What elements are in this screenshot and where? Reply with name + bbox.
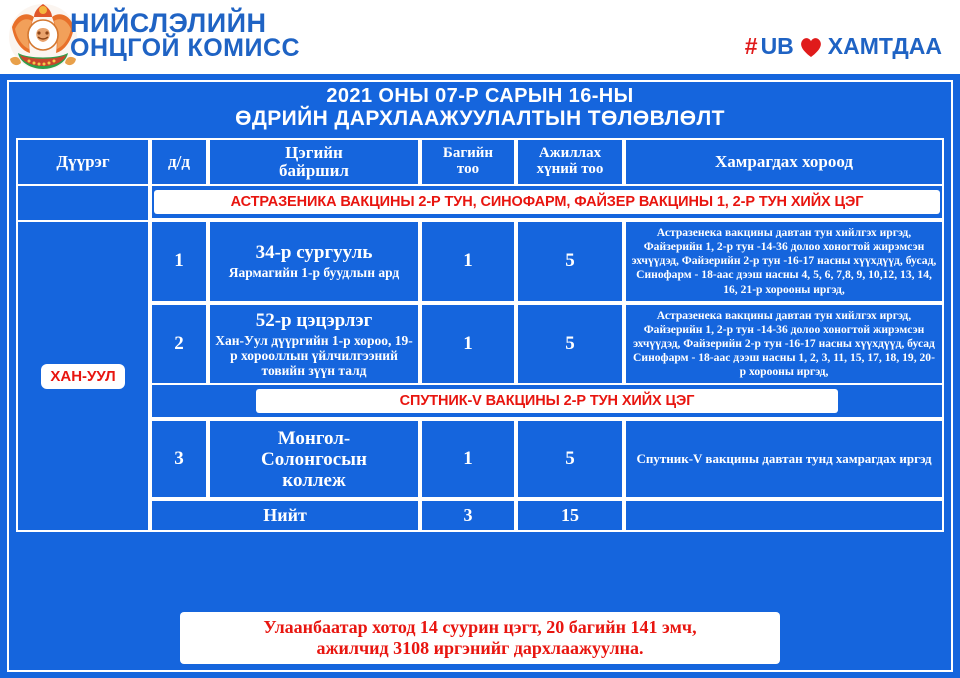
hash-symbol: # [745, 33, 758, 60]
row-staff: 5 [516, 419, 624, 499]
page-title: 2021 ОНЫ 07-Р САРЫН 16-НЫ ӨДРИЙН ДАРХЛАА… [9, 82, 951, 134]
col-header-teams-l2: тоо [425, 162, 511, 178]
row-staff: 5 [516, 303, 624, 386]
row-coverage: Астразенека вакцины давтан тун хийлгэх и… [624, 303, 944, 386]
row-teams: 1 [420, 220, 516, 303]
row-site-name: 52-р цэцэрлэг [213, 310, 415, 331]
col-header-staff: Ажиллах хүний тоо [516, 138, 624, 186]
org-name-line2: ОНЦГОЙ КОМИСС [70, 36, 300, 62]
table-row: ХАН-УУЛ 1 34-р сургууль Яармагийн 1-р бу… [16, 220, 944, 303]
row-teams: 1 [420, 419, 516, 499]
row-index: 3 [150, 419, 208, 499]
row-index: 2 [150, 303, 208, 386]
total-teams: 3 [420, 499, 516, 532]
banner-astrazeneca-label: АСТРАЗЕНИКА ВАКЦИНЫ 2-Р ТУН, СИНОФАРМ, Ф… [154, 190, 940, 214]
mongolia-state-emblem-icon [6, 1, 80, 73]
footer-banner-wrap: Улаанбаатар хотод 14 суурин цэгт, 20 баг… [16, 614, 944, 662]
row-site-name: 34-р сургууль [213, 242, 415, 263]
hashtag-word: ХАМТДАА [828, 33, 942, 60]
col-header-site-l1: Цэгийн [213, 144, 415, 162]
col-header-site-l2: байршил [213, 162, 415, 180]
row-site-name-l2: Солонгосын [213, 449, 415, 470]
row-coverage: Астразенека вакцины давтан тун хийлгэх и… [624, 220, 944, 303]
banner-row-astrazeneca: АСТРАЗЕНИКА ВАКЦИНЫ 2-Р ТУН, СИНОФАРМ, Ф… [16, 186, 944, 220]
col-header-site: Цэгийн байршил [208, 138, 420, 186]
col-header-teams-l1: Багийн [425, 146, 511, 162]
row-site: 52-р цэцэрлэг Хан-Уул дүүргийн 1-р хороо… [208, 303, 420, 386]
banner-cell-astrazeneca: АСТРАЗЕНИКА ВАКЦИНЫ 2-Р ТУН, СИНОФАРМ, Ф… [150, 186, 944, 220]
district-cell: ХАН-УУЛ [16, 220, 150, 532]
page-title-line1: 2021 ОНЫ 07-Р САРЫН 16-НЫ [326, 85, 633, 107]
heart-icon [799, 36, 823, 58]
row-site: Монгол- Солонгосын коллеж [208, 419, 420, 499]
col-header-index: д/д [150, 138, 208, 186]
total-staff: 15 [516, 499, 624, 532]
row-site-name-l3: коллеж [213, 470, 415, 491]
row-site-sub: Хан-Уул дүүргийн 1-р хороо, 19-р хороолл… [213, 333, 415, 378]
col-header-district: Дүүрэг [16, 138, 150, 186]
district-chip: ХАН-УУЛ [41, 364, 124, 389]
footer-banner: Улаанбаатар хотод 14 суурин цэгт, 20 баг… [180, 612, 780, 664]
col-header-coverage: Хамрагдах хороод [624, 138, 944, 186]
row-teams: 1 [420, 303, 516, 386]
poster-body: 2021 ОНЫ 07-Р САРЫН 16-НЫ ӨДРИЙН ДАРХЛАА… [0, 74, 960, 678]
row-site: 34-р сургууль Яармагийн 1-р буудлын ард [208, 220, 420, 303]
table-header-row: Дүүрэг д/д Цэгийн байршил Багийн тоо Ажи… [16, 138, 944, 186]
col-header-teams: Багийн тоо [420, 138, 516, 186]
campaign-hashtag: #UB ХАМТДАА [745, 33, 942, 60]
row-site-sub: Яармагийн 1-р буудлын ард [213, 265, 415, 280]
table-total-row: Нийт 3 15 [16, 499, 944, 532]
col-header-staff-l1: Ажиллах [521, 146, 619, 162]
total-label: Нийт [150, 499, 420, 532]
hashtag-ub: UB [761, 33, 794, 60]
vaccination-plan-table: Дүүрэг д/д Цэгийн байршил Багийн тоо Ажи… [16, 138, 944, 532]
banner-row-sputnik: СПУТНИК-V ВАКЦИНЫ 2-Р ТУН ХИЙХ ЦЭГ [16, 385, 944, 419]
row-index: 1 [150, 220, 208, 303]
row-staff: 5 [516, 220, 624, 303]
footer-line2: ажилчид 3108 иргэнийг дархлаажуулна. [194, 638, 766, 659]
org-name: НИЙСЛЭЛИЙН ОНЦГОЙ КОМИСС [70, 10, 300, 61]
header-bar: НИЙСЛЭЛИЙН ОНЦГОЙ КОМИСС #UB ХАМТДАА [0, 0, 960, 74]
col-header-staff-l2: хүний тоо [521, 162, 619, 178]
footer-line1: Улаанбаатар хотод 14 суурин цэгт, 20 баг… [194, 617, 766, 638]
banner-sputnik-label: СПУТНИК-V ВАКЦИНЫ 2-Р ТУН ХИЙХ ЦЭГ [256, 389, 838, 413]
row-site-name-l1: Монгол- [213, 428, 415, 449]
table-row: 2 52-р цэцэрлэг Хан-Уул дүүргийн 1-р хор… [16, 303, 944, 386]
banner-cell-sputnik: СПУТНИК-V ВАКЦИНЫ 2-Р ТУН ХИЙХ ЦЭГ [150, 385, 944, 419]
table-row: 3 Монгол- Солонгосын коллеж 1 5 Спутник-… [16, 419, 944, 499]
page-title-line2: ӨДРИЙН ДАРХЛААЖУУЛАЛТЫН ТӨЛӨВЛӨЛТ [235, 107, 725, 131]
total-coverage-empty [624, 499, 944, 532]
row-coverage: Спутник-V вакцины давтан тунд хамрагдах … [624, 419, 944, 499]
